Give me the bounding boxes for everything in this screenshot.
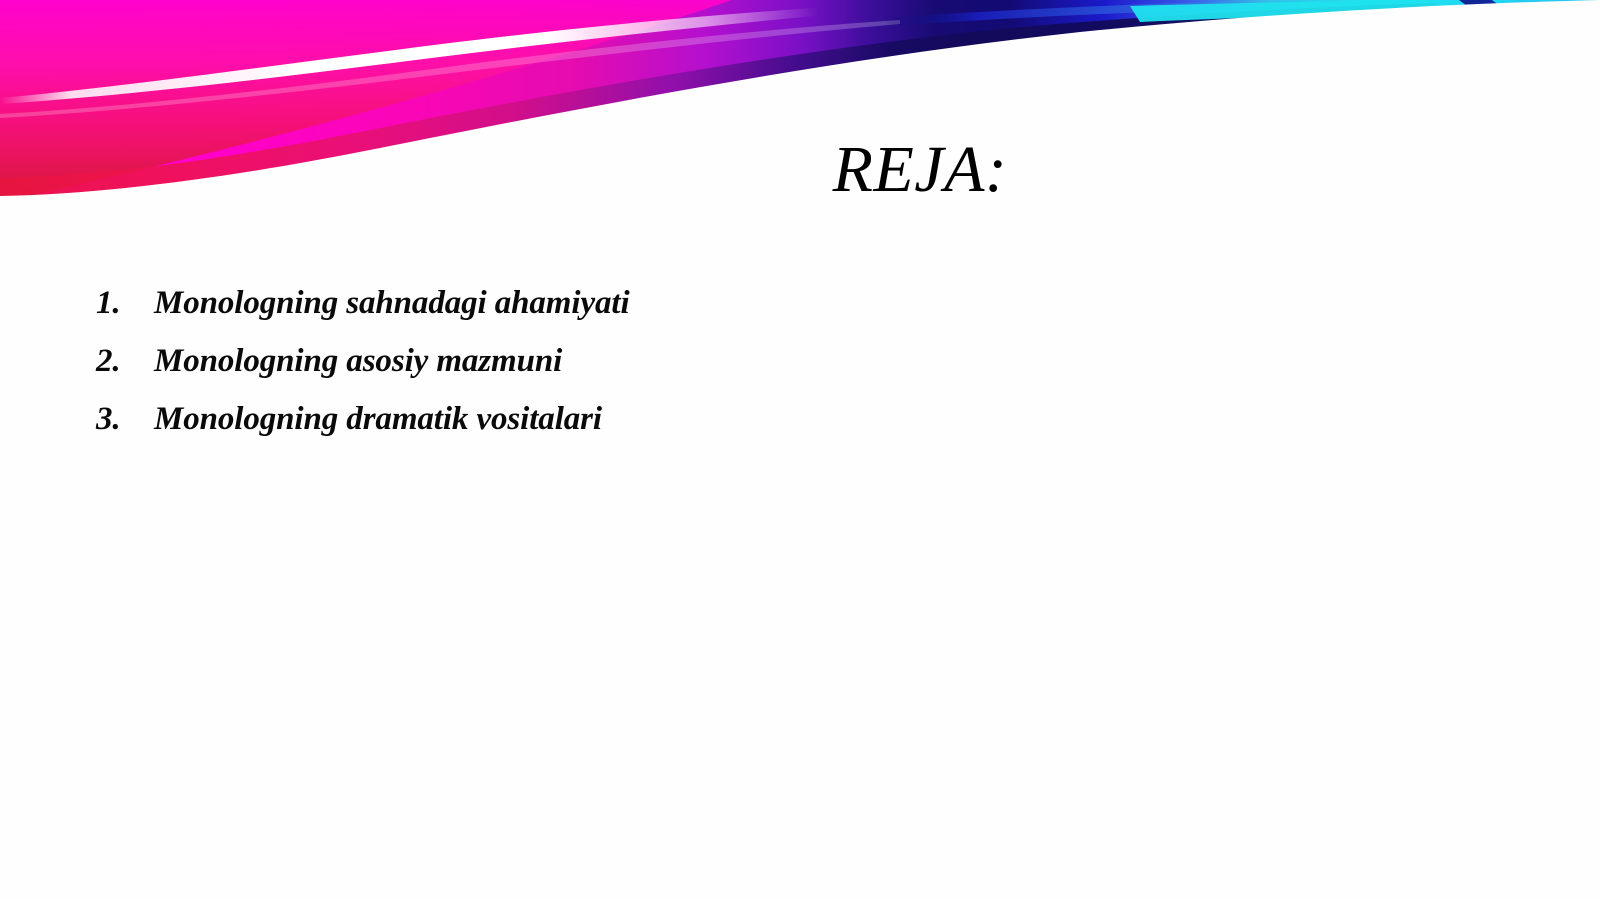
list-item-label: Monologning dramatik vositalari <box>154 401 602 438</box>
wave-ribbon-decoration <box>0 0 1600 260</box>
wave-darkblue-bar <box>1446 0 1600 92</box>
wave-ribbon-svg <box>0 0 1600 260</box>
wave-soft-highlight <box>0 20 900 118</box>
page-title: REJA: <box>640 137 1200 203</box>
wave-blue-streak <box>880 0 1270 26</box>
list-item-label: Monologning sahnadagi ahamiyati <box>154 285 630 322</box>
list-item: 2. Monologning asosiy mazmuni <box>96 343 996 401</box>
agenda-list: 1. Monologning sahnadagi ahamiyati 2. Mo… <box>96 285 996 459</box>
wave-white-highlight <box>0 4 880 104</box>
list-item-number: 3. <box>96 401 154 438</box>
wave-cyan-wash <box>1500 0 1600 60</box>
list-item-number: 2. <box>96 343 154 380</box>
list-item-number: 1. <box>96 285 154 322</box>
list-item-label: Monologning asosiy mazmuni <box>154 343 562 380</box>
wave-cyan-sliver <box>1130 0 1600 22</box>
wave-bottom-mask <box>0 0 1600 260</box>
wave-cyan-wedge <box>1418 0 1600 76</box>
presentation-slide: REJA: 1. Monologning sahnadagi ahamiyati… <box>0 0 1600 899</box>
list-item: 1. Monologning sahnadagi ahamiyati <box>96 285 996 343</box>
list-item: 3. Monologning dramatik vositalari <box>96 401 996 459</box>
